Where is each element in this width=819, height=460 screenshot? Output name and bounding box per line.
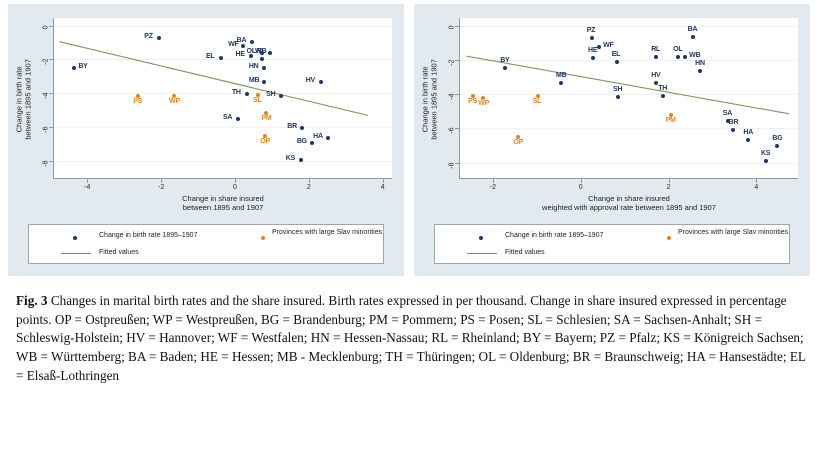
y-axis-title-line: between 1895 and 1907: [430, 19, 439, 179]
x-axis-title-line: between 1895 and 1907: [54, 203, 392, 212]
x-tick: [87, 179, 88, 183]
y-tick-label: 0: [43, 25, 50, 43]
data-point-pz: [590, 36, 594, 40]
data-point-label-wb: WB: [689, 52, 700, 59]
y-tick-label: -6: [43, 127, 50, 145]
y-tick-label: -8: [449, 162, 456, 180]
data-point-ha: [326, 136, 330, 140]
x-tick-label: 4: [375, 184, 391, 191]
legend-label-fitted-values: Fitted values: [99, 249, 139, 258]
x-tick: [669, 179, 670, 183]
data-point-label-op: OP: [513, 139, 523, 146]
data-point-label-wf: WF: [603, 42, 613, 49]
x-axis-line: [53, 178, 392, 179]
data-point-label-op: OP: [260, 138, 270, 145]
x-tick-label: -2: [485, 184, 501, 191]
data-point-label-pm: PM: [666, 117, 676, 124]
chart-legend: Change in birth rate 1895–1907Provinces …: [434, 224, 790, 264]
data-point-label-hn: HN: [695, 60, 705, 67]
legend-marker-slav-minorities: [667, 236, 671, 240]
fitted-values-line: [54, 18, 392, 178]
data-point-label-el: EL: [206, 53, 215, 60]
legend-label-slav-minorities: Provinces with large Slav minorities: [678, 229, 798, 238]
y-axis-line: [459, 18, 460, 178]
data-point-label-by: BY: [500, 57, 509, 64]
x-tick-label: 0: [573, 184, 589, 191]
y-tick-label: -4: [43, 93, 50, 111]
data-point-ol: [676, 55, 680, 59]
x-axis-title-line: Change in share insured: [54, 194, 392, 203]
x-axis-line: [459, 178, 798, 179]
y-axis-title-line: Change in birth rate: [421, 19, 430, 179]
data-point-by: [72, 66, 76, 70]
chart-legend: Change in birth rate 1895–1907Provinces …: [28, 224, 384, 264]
data-point-rl: [260, 57, 264, 61]
x-axis-title: Change in share insuredbetween 1895 and …: [54, 194, 392, 213]
y-axis-title-line: between 1895 and 1907: [24, 19, 33, 179]
y-axis-line: [53, 18, 54, 178]
plot-area: PSWPBYSLOPMBPZHEWFELSHHVRLTHPMOLWBBAHNSA…: [460, 18, 798, 178]
data-point-el: [615, 60, 619, 64]
x-tick-label: 4: [748, 184, 764, 191]
chart-panel-left: BYPZPSWPELWFBAHEOLWBRLHNMBHVTHSLSHSAPMOP…: [8, 4, 404, 276]
data-point-hv: [319, 80, 323, 84]
legend-marker-fitted-values: [467, 253, 497, 254]
x-tick: [383, 179, 384, 183]
data-point-label-sa: SA: [723, 110, 732, 117]
y-tick-label: -4: [449, 94, 456, 112]
data-point-label-rl: RL: [257, 48, 266, 55]
data-point-label-pz: PZ: [587, 27, 596, 34]
y-tick: [49, 26, 53, 27]
x-tick: [581, 179, 582, 183]
data-point-ba: [250, 40, 254, 44]
figure-charts-row: BYPZPSWPELWFBAHEOLWBRLHNMBHVTHSLSHSAPMOP…: [0, 0, 819, 282]
data-point-label-pz: PZ: [144, 33, 153, 40]
x-tick: [756, 179, 757, 183]
x-tick-label: 0: [227, 184, 243, 191]
plot-area: BYPZPSWPELWFBAHEOLWBRLHNMBHVTHSLSHSAPMOP…: [54, 18, 392, 178]
data-point-wf: [597, 45, 601, 49]
data-point-label-sl: SL: [253, 97, 262, 104]
x-tick: [161, 179, 162, 183]
legend-label-birth-rate: Change in birth rate 1895–1907: [505, 232, 603, 241]
legend-label-birth-rate: Change in birth rate 1895–1907: [99, 232, 197, 241]
data-point-label-ha: HA: [313, 133, 323, 140]
x-axis-title-line: weighted with approval rate between 1895…: [460, 203, 798, 212]
chart-panel-right: PSWPBYSLOPMBPZHEWFELSHHVRLTHPMOLWBBAHNSA…: [414, 4, 810, 276]
y-tick: [455, 128, 459, 129]
data-point-label-sh: SH: [613, 86, 622, 93]
data-point-label-bg: BG: [772, 135, 782, 142]
x-tick: [309, 179, 310, 183]
data-point-mb: [559, 81, 563, 85]
x-tick-label: -4: [79, 184, 95, 191]
data-point-th: [661, 94, 665, 98]
y-axis-title: Change in birth ratebetween 1895 and 190…: [421, 19, 440, 179]
legend-label-slav-minorities: Provinces with large Slav minorities: [272, 229, 392, 238]
data-point-label-el: EL: [612, 51, 621, 58]
x-axis-title-line: Change in share insured: [460, 194, 798, 203]
figure-caption: Fig. 3 Changes in marital birth rates an…: [16, 292, 806, 386]
data-point-rl: [654, 55, 658, 59]
data-point-label-th: TH: [232, 89, 241, 96]
y-tick: [455, 94, 459, 95]
x-tick-label: 2: [301, 184, 317, 191]
y-tick-label: -8: [43, 161, 50, 179]
x-tick: [235, 179, 236, 183]
data-point-label-br: BR: [287, 123, 297, 130]
y-tick: [49, 161, 53, 162]
data-point-ks: [299, 158, 303, 162]
data-point-label-he: HE: [236, 51, 245, 58]
y-tick: [49, 127, 53, 128]
y-tick: [455, 60, 459, 61]
data-point-label-mb: MB: [556, 72, 567, 79]
data-point-label-ks: KS: [286, 155, 295, 162]
data-point-label-br: BR: [728, 119, 738, 126]
data-point-label-wp: WP: [478, 100, 489, 107]
data-point-th: [245, 92, 249, 96]
data-point-label-mb: MB: [249, 77, 260, 84]
data-point-label-ha: HA: [743, 129, 753, 136]
y-tick-label: 0: [449, 25, 456, 43]
data-point-label-ba: BA: [688, 26, 698, 33]
legend-marker-birth-rate: [73, 236, 77, 240]
data-point-label-ks: KS: [761, 150, 770, 157]
caption-label: Fig. 3: [16, 293, 48, 308]
data-point-label-sh: SH: [266, 91, 275, 98]
data-point-label-pm: PM: [261, 115, 271, 122]
y-tick: [455, 26, 459, 27]
data-point-he: [591, 56, 595, 60]
legend-label-fitted-values: Fitted values: [505, 249, 545, 258]
x-tick-label: -2: [153, 184, 169, 191]
caption-text: Changes in marital birth rates and the s…: [16, 293, 805, 383]
legend-marker-birth-rate: [479, 236, 483, 240]
data-point-label-by: BY: [78, 63, 87, 70]
legend-marker-fitted-values: [61, 253, 91, 254]
y-tick-label: -2: [449, 59, 456, 77]
data-point-label-th: TH: [658, 85, 667, 92]
data-point-label-he: HE: [588, 47, 597, 54]
fitted-values-line: [460, 18, 798, 178]
x-axis-title: Change in share insuredweighted with app…: [460, 194, 798, 213]
data-point-label-ba: BA: [237, 37, 247, 44]
y-axis-title-line: Change in birth rate: [15, 19, 24, 179]
data-point-label-rl: RL: [651, 46, 660, 53]
data-point-label-hn: HN: [249, 63, 259, 70]
y-axis-title: Change in birth ratebetween 1895 and 190…: [15, 19, 34, 179]
data-point-label-ol: OL: [673, 46, 682, 53]
data-point-label-ps: PS: [468, 98, 477, 105]
data-point-label-sa: SA: [223, 114, 232, 121]
data-point-label-ps: PS: [133, 98, 142, 105]
data-point-label-bg: BG: [297, 138, 307, 145]
data-point-label-sl: SL: [533, 98, 542, 105]
data-point-label-wp: WP: [169, 98, 180, 105]
x-tick: [493, 179, 494, 183]
legend-marker-slav-minorities: [261, 236, 265, 240]
y-tick: [49, 93, 53, 94]
data-point-label-hv: HV: [306, 77, 315, 84]
data-point-label-hv: HV: [651, 72, 660, 79]
figure-page: BYPZPSWPELWFBAHEOLWBRLHNMBHVTHSLSHSAPMOP…: [0, 0, 819, 460]
data-point-sa: [236, 117, 240, 121]
y-tick: [49, 59, 53, 60]
y-tick: [455, 163, 459, 164]
y-tick-label: -6: [449, 128, 456, 146]
y-tick-label: -2: [43, 59, 50, 77]
x-tick-label: 2: [661, 184, 677, 191]
